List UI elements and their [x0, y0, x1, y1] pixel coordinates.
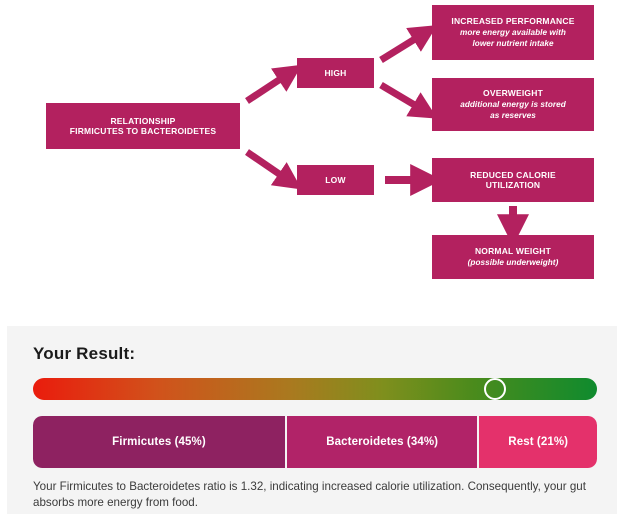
node-relationship: RELATIONSHIP FIRMICUTES TO BACTEROIDETES [46, 103, 240, 149]
result-heading: Your Result: [33, 344, 591, 364]
node-relationship-line1: RELATIONSHIP [110, 116, 175, 126]
node-reduced-calorie-utilization: REDUCED CALORIE UTILIZATION [432, 158, 594, 202]
node-normal-weight: NORMAL WEIGHT (possible underweight) [432, 235, 594, 279]
arrow-root-to-low [247, 152, 288, 180]
node-high-label: HIGH [324, 68, 346, 78]
node-normal-weight-sub: (possible underweight) [468, 258, 559, 268]
composition-bar: Firmicutes (45%)Bacteroidetes (34%)Rest … [33, 416, 597, 468]
node-increased-performance-title: INCREASED PERFORMANCE [451, 16, 574, 26]
node-low: LOW [297, 165, 374, 195]
result-scale-gradient-bar [33, 378, 597, 400]
arrow-high-to-performance [381, 34, 423, 60]
node-increased-performance-sub-line1: more energy available with [460, 28, 566, 38]
node-high: HIGH [297, 58, 374, 88]
node-overweight-sub-line1: additional energy is stored [460, 100, 566, 110]
node-overweight: OVERWEIGHT additional energy is stored a… [432, 78, 594, 131]
node-reduced-calorie-line1: REDUCED CALORIE [470, 170, 556, 180]
node-normal-weight-title: NORMAL WEIGHT [475, 246, 551, 256]
node-low-label: LOW [325, 175, 345, 185]
result-summary-line1: Your Firmicutes to Bacteroidetes ratio i… [33, 480, 464, 493]
node-overweight-sub-line2: as reserves [490, 111, 536, 121]
result-scale [33, 378, 597, 400]
result-summary: Your Firmicutes to Bacteroidetes ratio i… [33, 479, 597, 512]
arrow-root-to-high [247, 74, 288, 101]
node-increased-performance-sub-line2: lower nutrient intake [472, 39, 553, 49]
node-relationship-line2: FIRMICUTES TO BACTEROIDETES [70, 126, 216, 136]
flowchart-diagram: RELATIONSHIP FIRMICUTES TO BACTEROIDETES… [0, 0, 624, 320]
node-increased-performance: INCREASED PERFORMANCE more energy availa… [432, 5, 594, 60]
composition-segment-firmicutes: Firmicutes (45%) [33, 416, 285, 468]
node-overweight-title: OVERWEIGHT [483, 88, 543, 98]
arrow-high-to-overweight [381, 85, 423, 110]
composition-segment-bacteroidetes: Bacteroidetes (34%) [285, 416, 477, 468]
result-panel: Your Result: Firmicutes (45%)Bacteroidet… [7, 326, 617, 514]
node-reduced-calorie-line2: UTILIZATION [486, 180, 540, 190]
composition-segment-rest: Rest (21%) [477, 416, 597, 468]
